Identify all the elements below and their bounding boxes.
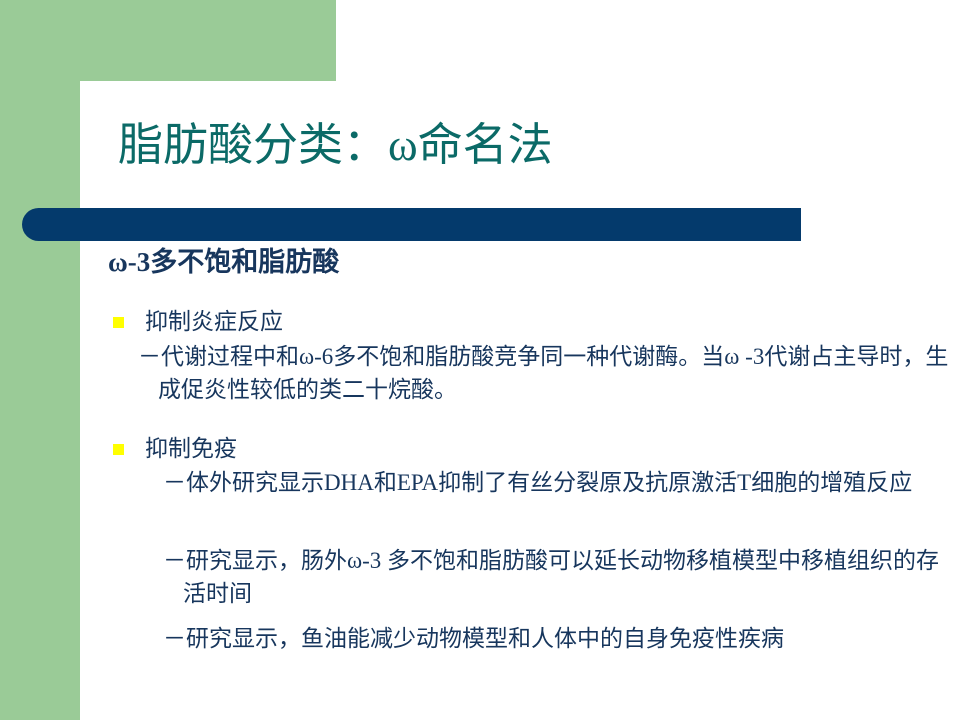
yellow-square-bullet-icon xyxy=(113,317,124,328)
slide-canvas: 脂肪酸分类：ω命名法 ω-3多不饱和脂肪酸 抑制炎症反应 －代谢过程中和ω-6多… xyxy=(0,0,960,720)
slide-title: 脂肪酸分类：ω命名法 xyxy=(118,116,918,174)
bullet-item-1: 抑制炎症反应 xyxy=(113,306,283,338)
green-left-strip xyxy=(0,0,80,720)
sub-bullet-1-1: －代谢过程中和ω-6多不饱和脂肪酸竞争同一种代谢酶。当ω -3代谢占主导时，生成… xyxy=(138,340,958,406)
body-subtitle: ω-3多不饱和脂肪酸 xyxy=(108,244,339,280)
sub-bullet-2-1: －体外研究显示DHA和EPA抑制了有丝分裂原及抗原激活T细胞的增殖反应 xyxy=(163,466,943,499)
sub-bullet-2-2: －研究显示，肠外ω-3 多不饱和脂肪酸可以延长动物移植模型中移植组织的存活时间 xyxy=(163,544,943,610)
bullet-item-1-label: 抑制炎症反应 xyxy=(145,306,283,338)
bullet-item-2-label: 抑制免疫 xyxy=(145,433,237,465)
sub-bullet-2-3: －研究显示，鱼油能减少动物模型和人体中的自身免疫性疾病 xyxy=(163,622,943,655)
bullet-item-2: 抑制免疫 xyxy=(113,433,237,465)
yellow-square-bullet-icon xyxy=(113,444,124,455)
navy-divider-bar xyxy=(22,208,801,241)
